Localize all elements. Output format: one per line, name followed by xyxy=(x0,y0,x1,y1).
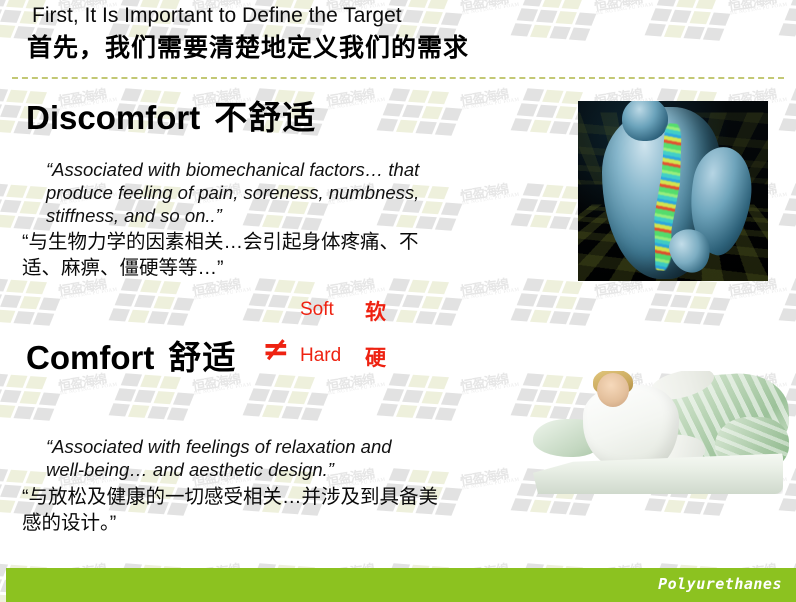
title-divider xyxy=(12,77,784,79)
label-soft-english: Soft xyxy=(300,299,334,321)
woman-on-mattress-image xyxy=(527,371,789,496)
footer-bar: Polyurethanes xyxy=(6,568,796,602)
page-title-chinese: 首先，我们需要清楚地定义我们的需求 xyxy=(27,28,469,64)
comfort-quote-english: “Associated with feelings of relaxation … xyxy=(46,435,516,481)
label-hard-english: Hard xyxy=(300,345,341,367)
label-soft-chinese: 软 xyxy=(365,296,386,326)
heading-discomfort-chinese: 不舒适 xyxy=(214,99,316,136)
label-hard-chinese: 硬 xyxy=(365,342,386,372)
bed-image-body xyxy=(583,385,679,471)
discomfort-quote-english: “Associated with biomechanical factors… … xyxy=(46,158,516,227)
heading-discomfort: Discomfort不舒适 xyxy=(26,91,316,139)
slide-canvas: 恒盈海绵HE NGYING PU FOAM恒盈海绵HE NGYING PU FO… xyxy=(0,0,796,602)
discomfort-quote-chinese: “与生物力学的因素相关…会引起身体疼痛、不 适、麻痹、僵硬等等…” xyxy=(22,229,522,281)
footer-brand-label: Polyurethanes xyxy=(658,575,782,593)
not-equal-icon: ≠ xyxy=(262,329,290,368)
comfort-quote-chinese: “与放松及健康的一切感受相关…并涉及到具备美 感的设计。” xyxy=(22,484,532,536)
spine-back-pain-image xyxy=(578,101,768,281)
page-title-english: First, It Is Important to Define the Tar… xyxy=(32,4,402,28)
spine-image-head xyxy=(622,101,668,141)
heading-comfort: Comfort舒适 xyxy=(26,331,236,379)
heading-comfort-chinese: 舒适 xyxy=(168,339,236,376)
slide-content: First, It Is Important to Define the Tar… xyxy=(0,0,796,602)
bed-image-head xyxy=(597,373,629,407)
heading-discomfort-english: Discomfort xyxy=(26,99,200,136)
heading-comfort-english: Comfort xyxy=(26,339,154,376)
